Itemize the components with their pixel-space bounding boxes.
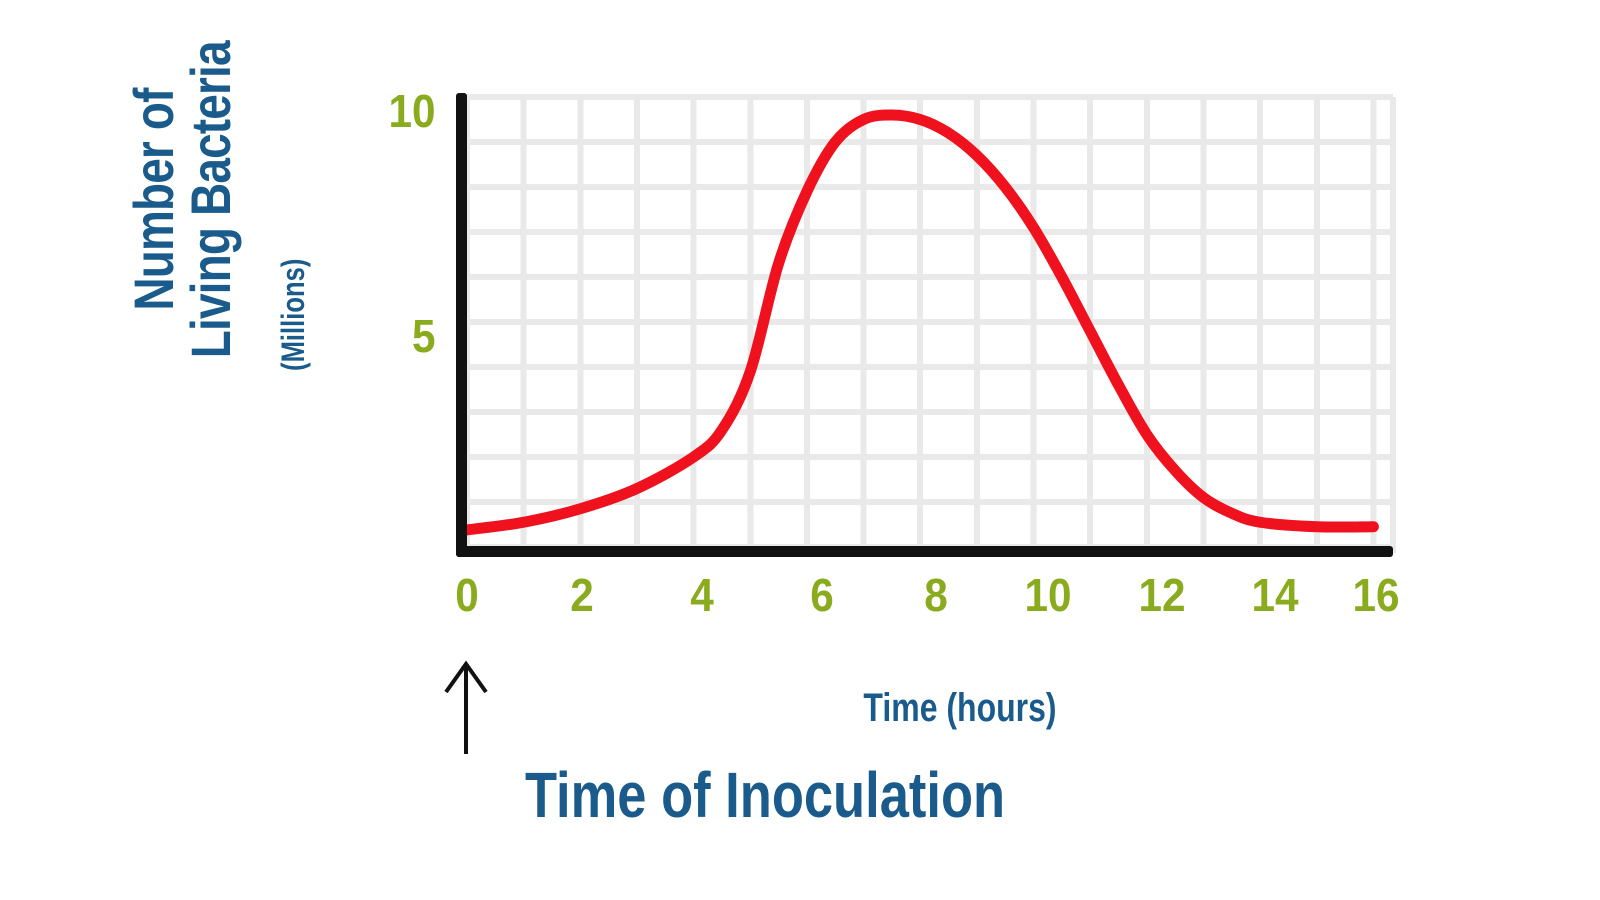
x-tick-label-8: 8 xyxy=(890,568,982,622)
x-tick-label-16: 16 xyxy=(1321,568,1431,622)
x-tick-label-12: 12 xyxy=(1107,568,1217,622)
x-tick-label-14: 14 xyxy=(1220,568,1330,622)
x-tick-label-6: 6 xyxy=(776,568,868,622)
grid-lines-horizontal xyxy=(462,97,1393,547)
x-axis-title: Time (hours) xyxy=(800,686,1120,731)
x-tick-label-4: 4 xyxy=(656,568,748,622)
y-axis-title-line-1: Number of xyxy=(125,89,182,311)
plot-area xyxy=(462,90,1402,560)
x-tick-label-0: 0 xyxy=(421,568,513,622)
inoculation-annotation-label: Time of Inoculation xyxy=(355,758,1175,832)
inoculation-arrow-icon xyxy=(442,650,502,760)
y-axis-units-text: (Millions) xyxy=(275,259,312,371)
y-tick-label-10: 10 xyxy=(334,84,435,138)
y-axis-line xyxy=(456,93,467,557)
chart-canvas: Number of Living Bacteria (Millions) 10 … xyxy=(0,0,1600,900)
y-axis-title-line-2: Living Bacteria xyxy=(182,42,239,359)
y-tick-label-5: 5 xyxy=(334,309,435,363)
x-axis-line xyxy=(456,546,1393,557)
x-tick-label-10: 10 xyxy=(993,568,1103,622)
y-axis-units-label: (Millions) xyxy=(263,205,323,425)
x-tick-label-2: 2 xyxy=(536,568,628,622)
